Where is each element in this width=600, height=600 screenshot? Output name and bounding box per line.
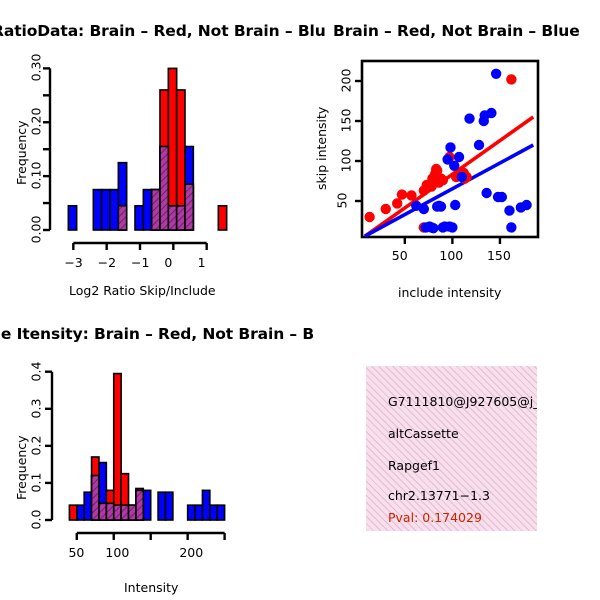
ratio-histogram-bars	[68, 68, 226, 230]
scatter-ytick-label: 200	[338, 69, 353, 93]
ratio-histogram-panel	[0, 45, 300, 310]
scatter-point	[506, 74, 516, 84]
scatter-point	[419, 204, 429, 214]
ratio-histogram-xlabel: Log2 Ratio Skip/Include	[69, 283, 216, 298]
histogram-bar	[99, 503, 106, 520]
scatter-ylabel: skip intensity	[314, 107, 329, 190]
histogram-bar	[106, 503, 113, 520]
ratio-xtick-label: −3	[64, 255, 82, 270]
scatter-fit-line	[365, 117, 533, 236]
ratio-xtick-label: 1	[198, 255, 206, 270]
histogram-bar	[77, 505, 84, 520]
histogram-bar	[129, 505, 136, 520]
scatter-point	[474, 140, 484, 150]
scatter-fit-lines	[365, 117, 533, 236]
histogram-bar	[165, 492, 172, 520]
histogram-bar	[158, 492, 165, 520]
histogram-bar	[121, 505, 128, 520]
scatter-point	[497, 192, 507, 202]
scatter-point	[504, 205, 514, 215]
scatter-points	[364, 69, 531, 234]
ratio-ytick-label: 0.20	[28, 108, 43, 136]
scatter-ytick-label: 150	[338, 109, 353, 133]
intensity-histogram-panel	[0, 350, 300, 600]
scatter-ytick-label: 50	[334, 193, 349, 209]
histogram-bar	[102, 190, 110, 230]
ratio-xtick-label: 0	[164, 255, 172, 270]
scatter-point	[406, 190, 416, 200]
histogram-bar	[143, 490, 150, 520]
scatter-xlabel: include intensity	[398, 285, 501, 300]
histogram-bar	[110, 190, 118, 230]
intensity-ytick-label: 0.0	[28, 510, 43, 530]
intensity-ytick-label: 0.3	[28, 398, 43, 418]
histogram-bar	[92, 476, 99, 520]
scatter-title: Brain – Red, Not Brain – Blue	[333, 22, 580, 40]
info-line-locus: chr2.13771−1.3	[388, 488, 490, 503]
info-line-gene: Rapgef1	[388, 458, 440, 473]
scatter-point	[438, 175, 448, 185]
intensity-xtick-label: 100	[105, 545, 129, 560]
scatter-point	[491, 69, 501, 79]
scatter-xtick-label: 50	[392, 248, 408, 263]
histogram-bar	[114, 374, 121, 520]
histogram-bar	[135, 206, 143, 230]
info-line-event: altCassette	[388, 426, 459, 441]
scatter-xtick-label: 100	[439, 248, 463, 263]
info-line-pval: Pval: 0.174029	[388, 510, 482, 525]
intensity-xtick-label: 200	[179, 545, 203, 560]
ratio-ytick-label: 0.10	[28, 162, 43, 190]
scatter-point	[447, 222, 457, 232]
histogram-bar	[218, 206, 226, 230]
intensity-ytick-label: 0.4	[28, 361, 43, 381]
histogram-bar	[136, 490, 143, 520]
histogram-bar	[202, 490, 209, 520]
intensity-xtick-label: 50	[68, 545, 84, 560]
histogram-bar	[188, 505, 195, 520]
intensity-histogram-ylabel: Frequency	[14, 435, 29, 500]
scatter-point	[449, 161, 459, 171]
scatter-point	[464, 113, 474, 123]
scatter-point	[457, 172, 467, 182]
histogram-bar	[114, 505, 121, 520]
gene-info-panel: G7111810@J927605@j_ altCassette Rapgef1 …	[366, 366, 537, 531]
histogram-bar	[210, 505, 217, 520]
histogram-bar	[68, 206, 76, 230]
intensity-histogram-title: ne Itensity: Brain – Red, Not Brain – B	[0, 325, 314, 343]
ratio-ytick-label: 0.00	[28, 216, 43, 244]
scatter-ytick-label: 100	[338, 149, 353, 173]
scatter-point	[436, 201, 446, 211]
scatter-point	[428, 223, 438, 233]
histogram-bar	[185, 184, 193, 230]
ratio-histogram-ylabel: Frequency	[14, 120, 29, 185]
scatter-point	[445, 142, 455, 152]
ratio-xtick-label: −1	[131, 255, 149, 270]
scatter-xtick-label: 150	[487, 248, 511, 263]
histogram-bar	[217, 505, 224, 520]
scatter-point	[454, 152, 464, 162]
histogram-bar	[84, 492, 91, 520]
info-line-id: G7111810@J927605@j_	[388, 394, 537, 409]
scatter-point	[381, 204, 391, 214]
scatter-point	[486, 108, 496, 118]
histogram-bar	[160, 147, 168, 231]
histogram-bar	[168, 206, 176, 230]
scatter-point	[506, 222, 516, 232]
ratio-xtick-label: −2	[98, 255, 116, 270]
intensity-histogram-svg	[0, 350, 300, 600]
histogram-bar	[177, 206, 185, 230]
histogram-bar	[143, 190, 151, 230]
scatter-axes	[355, 81, 500, 244]
ratio-ytick-label: 0.30	[28, 54, 43, 82]
scatter-point	[397, 189, 407, 199]
histogram-bar	[69, 505, 76, 520]
intensity-histogram-bars	[69, 374, 224, 520]
ratio-histogram-svg	[0, 45, 300, 310]
scatter-point	[450, 200, 460, 210]
intensity-histogram-xlabel: Intensity	[124, 580, 178, 595]
histogram-bar	[152, 190, 160, 230]
histogram-bar	[118, 206, 126, 230]
scatter-point	[521, 200, 531, 210]
histogram-bar	[195, 505, 202, 520]
intensity-ytick-label: 0.1	[28, 472, 43, 492]
scatter-point	[481, 188, 491, 198]
scatter-point	[392, 198, 402, 208]
histogram-bar	[93, 190, 101, 230]
intensity-ytick-label: 0.2	[28, 435, 43, 455]
ratio-histogram-title: RatioData: Brain – Red, Not Brain – Blu	[0, 22, 326, 40]
scatter-point	[364, 212, 374, 222]
